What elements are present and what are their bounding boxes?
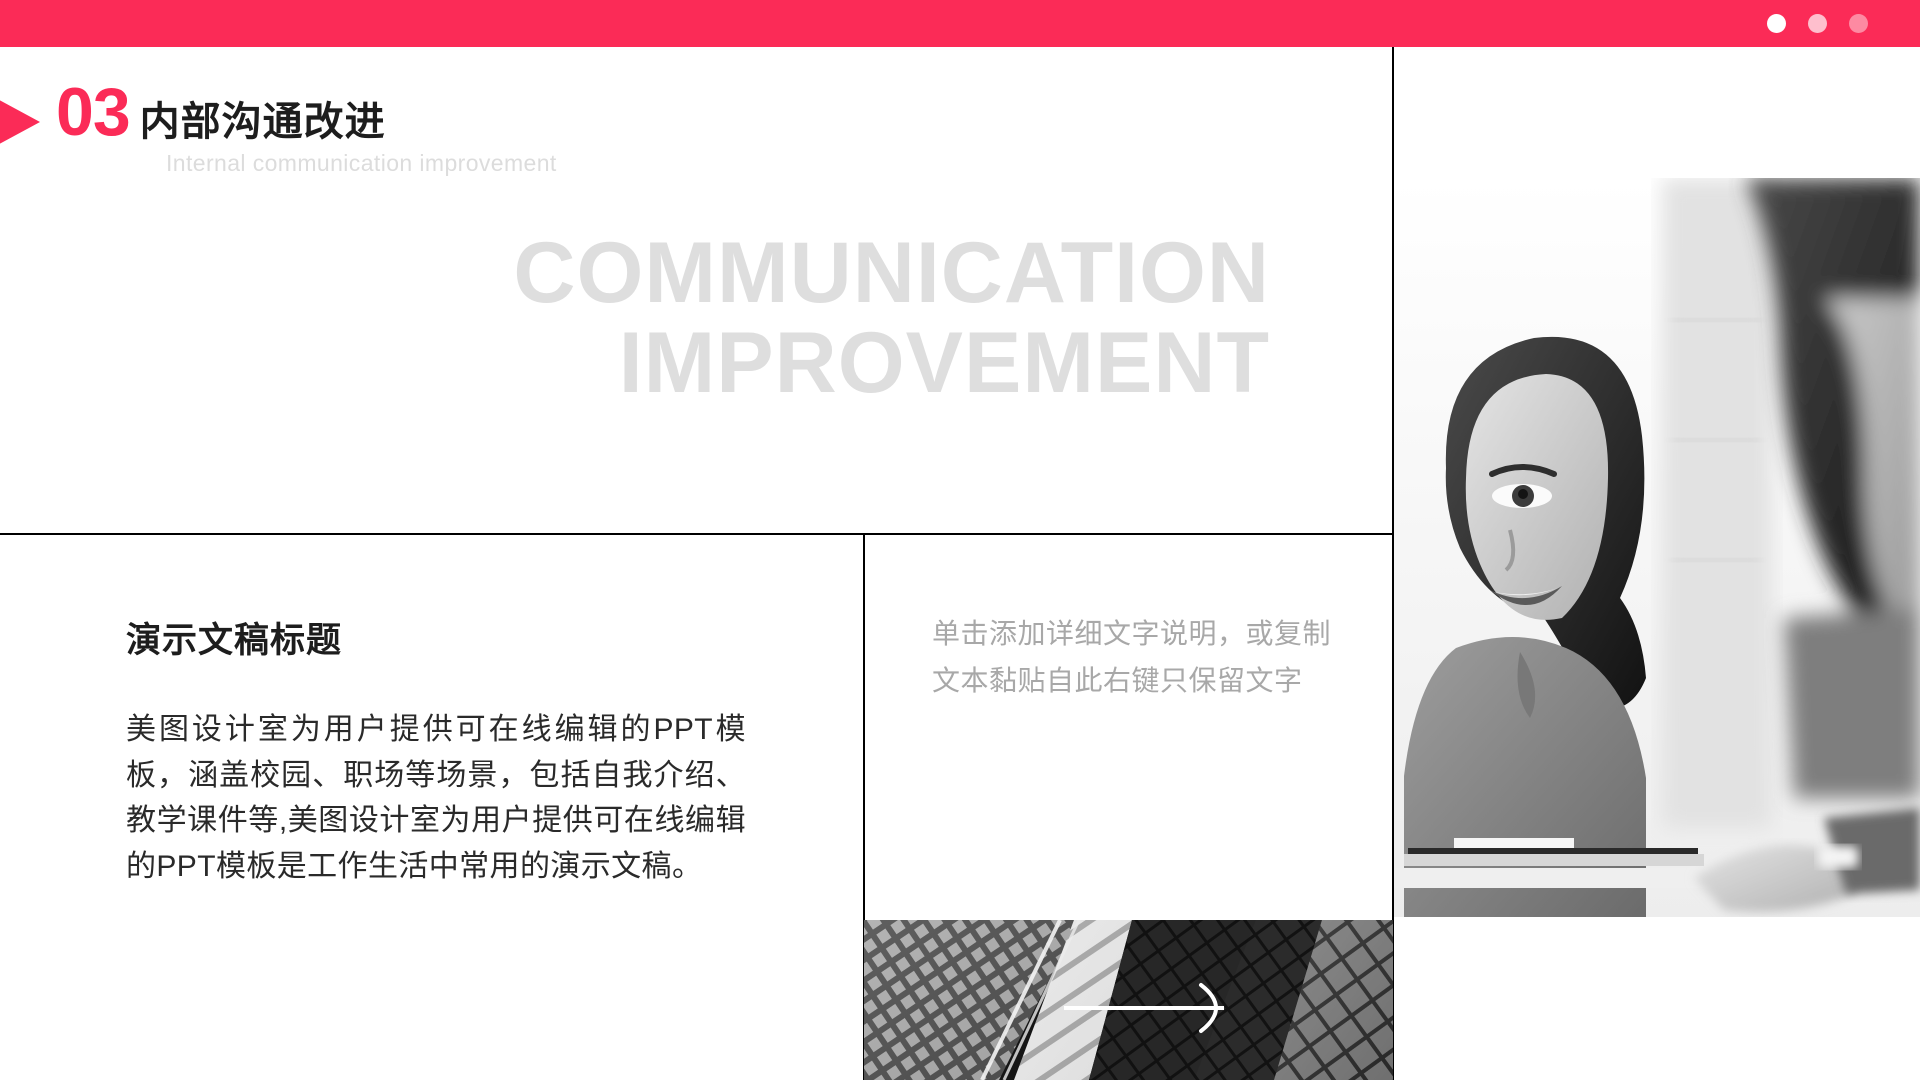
section-title-cn: 内部沟通改进 xyxy=(140,102,386,142)
section-heading: 03 内部沟通改进 Internal communication improve… xyxy=(0,78,760,183)
section-number: 03 xyxy=(56,78,130,146)
horizontal-divider xyxy=(0,533,1393,535)
section-subtitle-en: Internal communication improvement xyxy=(166,150,557,177)
left-block-body: 美图设计室为用户提供可在线编辑的PPT模板，涵盖校园、职场等场景，包括自我介绍、… xyxy=(126,707,746,889)
progress-dot-3[interactable] xyxy=(1849,14,1868,33)
top-accent-bar xyxy=(0,0,1920,47)
progress-dots xyxy=(1767,0,1868,47)
middle-content-block: 单击添加详细文字说明，或复制文本黏贴自此右键只保留文字 xyxy=(932,610,1352,704)
office-people-photo xyxy=(1394,178,1920,917)
play-triangle-icon xyxy=(0,96,40,148)
left-content-block: 演示文稿标题 美图设计室为用户提供可在线编辑的PPT模板，涵盖校园、职场等场景，… xyxy=(126,612,746,889)
buildings-photo xyxy=(864,920,1393,1080)
slide-canvas: 03 内部沟通改进 Internal communication improve… xyxy=(0,0,1920,1080)
heading-row: 03 内部沟通改进 xyxy=(56,78,386,146)
progress-dot-1[interactable] xyxy=(1767,14,1786,33)
watermark-line-2: IMPROVEMENT xyxy=(250,318,1270,408)
progress-dot-2[interactable] xyxy=(1808,14,1827,33)
left-block-title: 演示文稿标题 xyxy=(126,612,746,663)
middle-block-body: 单击添加详细文字说明，或复制文本黏贴自此右键只保留文字 xyxy=(932,610,1352,704)
watermark-line-1: COMMUNICATION xyxy=(250,228,1270,318)
buildings-photo-graphic xyxy=(864,920,1393,1080)
office-people-photo-graphic xyxy=(1394,178,1920,917)
watermark-text: COMMUNICATION IMPROVEMENT xyxy=(250,228,1270,409)
